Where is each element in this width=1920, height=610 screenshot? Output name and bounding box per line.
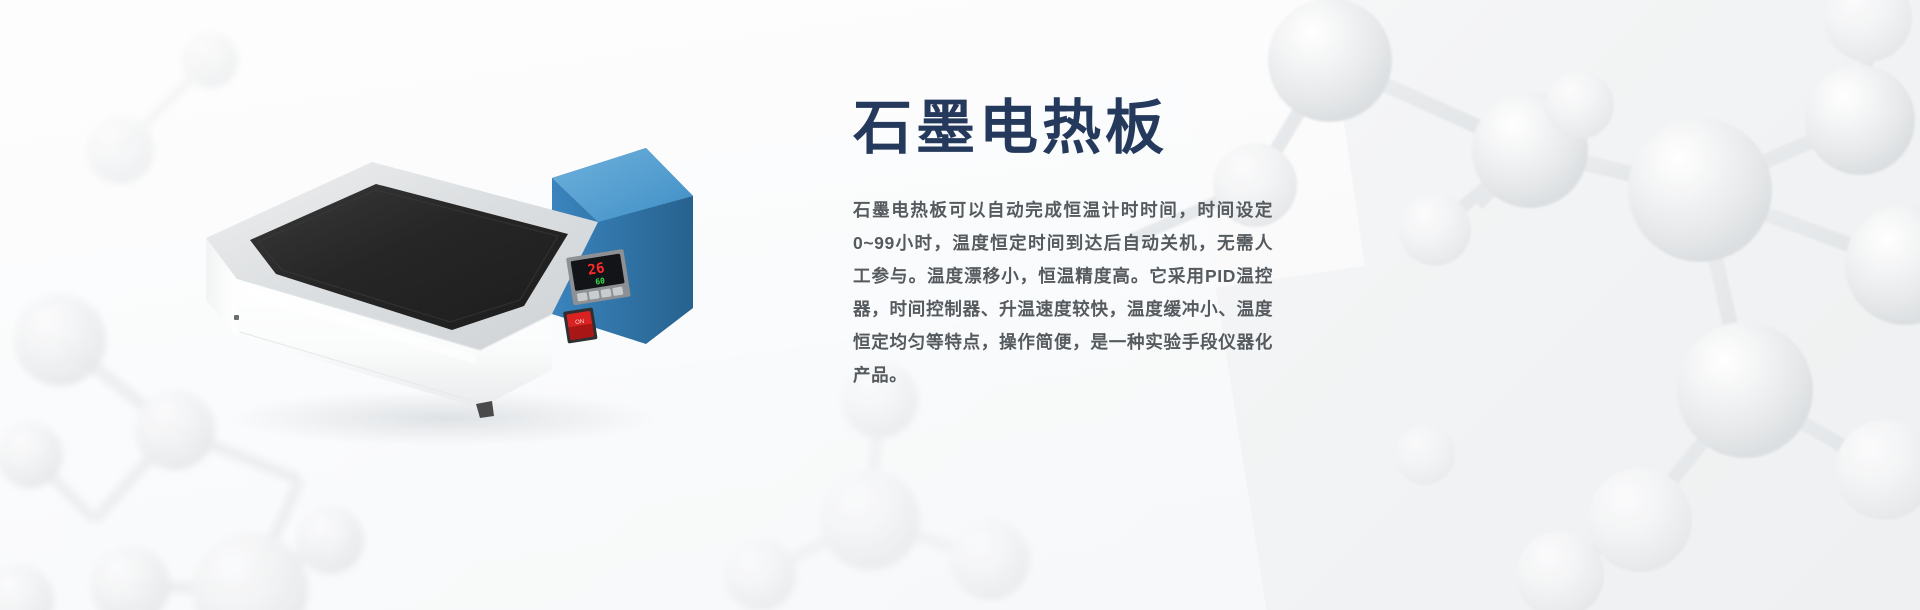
banner-text-block: 石墨电热板 石墨电热板可以自动完成恒温计时时间，时间设定0~99小时，温度恒定时… — [853, 98, 1313, 392]
pid-key-down[interactable] — [600, 288, 611, 297]
pid-key-up[interactable] — [612, 287, 623, 296]
product-photo-graphite-hot-plate: 26 60 ON — [180, 118, 700, 448]
hot-plate-foot-left — [234, 315, 239, 320]
power-switch[interactable]: ON — [563, 307, 598, 343]
hot-plate-illustration: 26 60 ON — [180, 118, 700, 448]
product-shadow — [230, 390, 660, 446]
product-description: 石墨电热板可以自动完成恒温计时时间，时间设定0~99小时，温度恒定时间到达后自动… — [853, 194, 1273, 392]
pid-controller: 26 60 — [566, 249, 631, 305]
pid-key-shift[interactable] — [589, 290, 600, 299]
pid-key-set[interactable] — [577, 292, 588, 301]
display-sv-value: 60 — [595, 276, 606, 286]
product-banner: 26 60 ON 石墨电热板 — [0, 0, 1920, 610]
page-title: 石墨电热板 — [853, 98, 1313, 160]
